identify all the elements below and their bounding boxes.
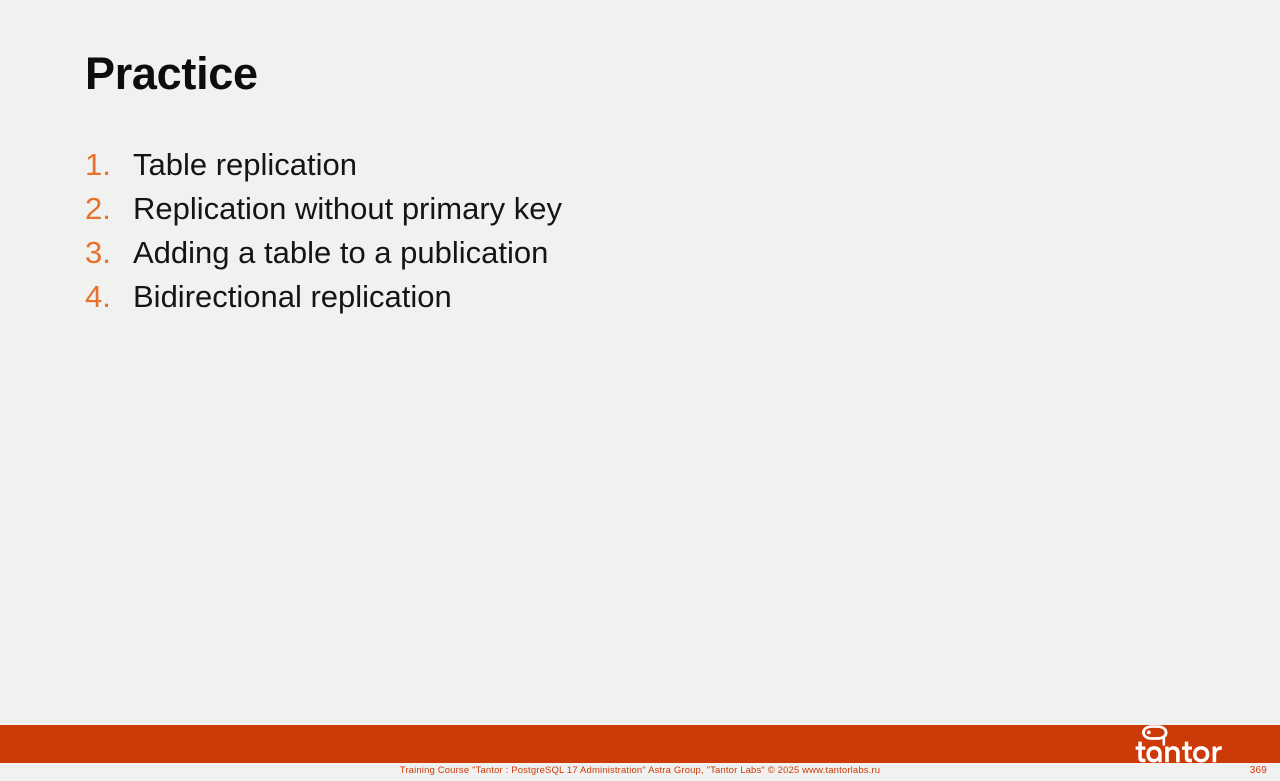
list-item: 2. Replication without primary key: [85, 187, 562, 231]
list-item-number: 3.: [85, 231, 133, 275]
list-item-number: 2.: [85, 187, 133, 231]
list-item-label: Adding a table to a publication: [133, 231, 548, 275]
footer-bar: [0, 725, 1280, 763]
list-item-label: Bidirectional replication: [133, 275, 452, 319]
slide-canvas: Practice 1. Table replication 2. Replica…: [0, 0, 1280, 781]
list-item: 4. Bidirectional replication: [85, 275, 562, 319]
list-item-label: Table replication: [133, 143, 357, 187]
page-title: Practice: [85, 50, 258, 97]
page-number: 369: [1250, 765, 1267, 776]
practice-task-list: 1. Table replication 2. Replication with…: [85, 143, 562, 319]
list-item-number: 4.: [85, 275, 133, 319]
tantor-logo: [1134, 723, 1262, 765]
footer-strip: Training Course "Tantor : PostgreSQL 17 …: [0, 763, 1280, 781]
list-item: 3. Adding a table to a publication: [85, 231, 562, 275]
list-item: 1. Table replication: [85, 143, 562, 187]
footer-copyright-note: Training Course "Tantor : PostgreSQL 17 …: [0, 765, 1280, 776]
list-item-number: 1.: [85, 143, 133, 187]
list-item-label: Replication without primary key: [133, 187, 562, 231]
